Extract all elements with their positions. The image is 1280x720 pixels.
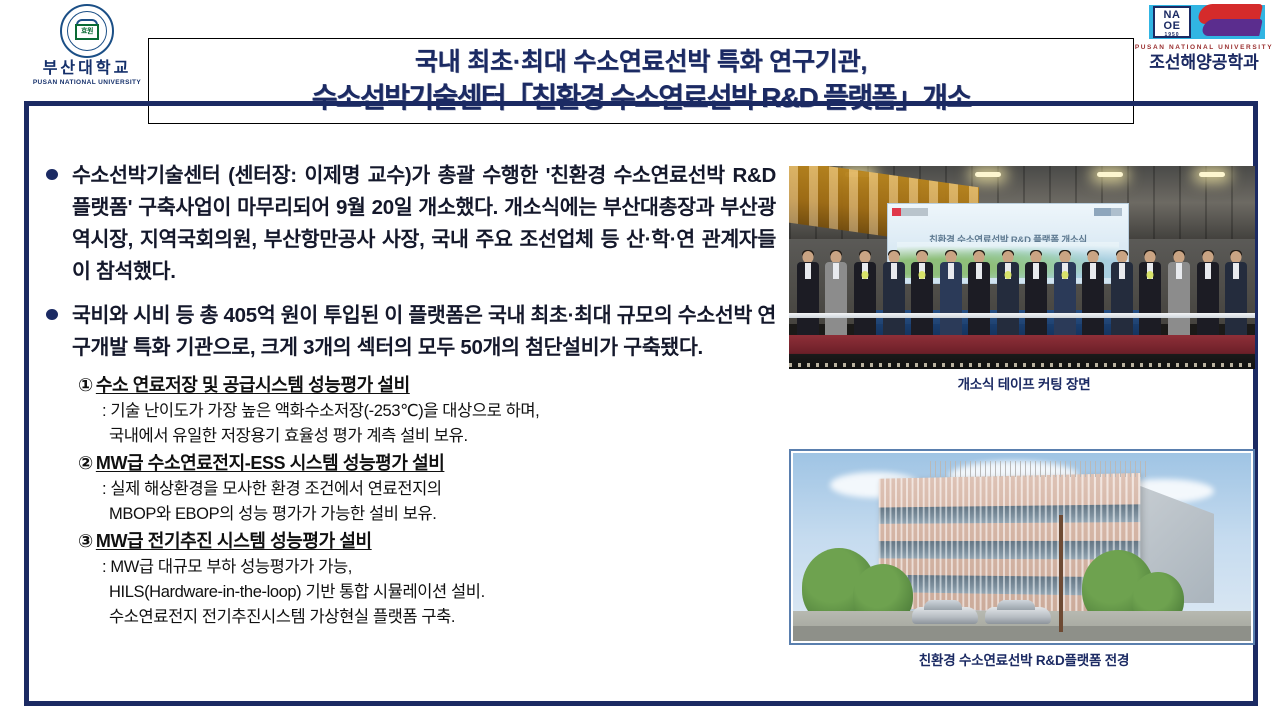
ceiling-lamp-icon	[1097, 172, 1123, 177]
photo-caption-building: 친환경 수소연료선박 R&D플랫폼 전경	[789, 651, 1259, 671]
attendee	[1194, 251, 1221, 336]
numbered-item-2: ②MW급 수소연료전지-ESS 시스템 성능평가 설비 : 실제 해상환경을 모…	[78, 450, 776, 527]
ceremony-attendees	[789, 251, 1255, 336]
bullet-item: 수소선박기술센터 (센터장: 이제명 교수)가 총괄 수행한 '친환경 수소연료…	[46, 160, 776, 288]
bullet-dot-icon	[46, 309, 58, 320]
naoe-acronym-block: NA OE 1950	[1153, 6, 1191, 38]
utility-pole	[1059, 515, 1063, 632]
attendee	[1108, 251, 1135, 336]
body-text-column: 수소선박기술센터 (센터장: 이제명 교수)가 총괄 수행한 '친환경 수소연료…	[46, 160, 776, 690]
naoe-year: 1950	[1155, 32, 1189, 39]
slide-title-box: 국내 최초·최대 수소연료선박 특화 연구기관, 수소선박기술센터「친환경 수소…	[148, 38, 1134, 124]
attendee	[1080, 251, 1107, 336]
bullet-text-1: 수소선박기술센터 (센터장: 이제명 교수)가 총괄 수행한 '친환경 수소연료…	[72, 160, 776, 288]
ceiling-lamp-icon	[975, 172, 1001, 177]
red-carpet-stage	[789, 335, 1255, 370]
attendee	[1137, 251, 1164, 336]
attendee	[880, 251, 907, 336]
attendee	[937, 251, 964, 336]
ceremony-ribbon	[789, 313, 1255, 318]
pnu-seal-icon: 효원	[60, 4, 114, 58]
rooftop-railing	[930, 461, 1150, 478]
naoe-purple-swoosh-icon	[1201, 19, 1263, 36]
numbered-item-1-heading: ①수소 연료저장 및 공급시스템 성능평가 설비	[78, 372, 776, 399]
numbered-heading-text-3: MW급 전기추진 시스템 성능평가 설비	[96, 531, 372, 551]
numbered-item-3-line-1: : MW급 대규모 부하 성능평가가 가능,	[78, 555, 776, 580]
ceiling-lamp-icon	[1199, 172, 1225, 177]
numbered-item-3: ③MW급 전기추진 시스템 성능평가 설비 : MW급 대규모 부하 성능평가가…	[78, 528, 776, 630]
pnu-seal-book-icon: 효원	[75, 24, 99, 40]
ribbon-cutting-ceremony-photo: 친환경 수소연료선박 R&D 플랫폼 개소식	[789, 166, 1255, 369]
slide-title-line-1: 국내 최초·최대 수소연료선박 특화 연구기관,	[415, 45, 867, 79]
bullet-text-2: 국비와 시비 등 총 405억 원이 투입된 이 플랫폼은 국내 최초·최대 규…	[72, 300, 776, 364]
pusan-national-university-logo: 효원 부산대학교 PUSAN NATIONAL UNIVERSITY	[27, 4, 147, 92]
naoe-acronym-line2: OE	[1155, 21, 1189, 32]
parked-car	[912, 607, 978, 624]
numbered-marker-1: ①	[78, 375, 93, 395]
presentation-slide: 효원 부산대학교 PUSAN NATIONAL UNIVERSITY NA OE…	[0, 0, 1280, 720]
numbered-facility-list: ①수소 연료저장 및 공급시스템 성능평가 설비 : 기술 난이도가 가장 높은…	[46, 372, 776, 630]
numbered-item-3-line-3: 수소연료전지 전기추진시스템 가상현실 플랫폼 구축.	[78, 605, 776, 630]
numbered-item-2-line-2: MBOP와 EBOP의 성능 평가가 가능한 설비 보유.	[78, 502, 776, 527]
attendee	[1165, 251, 1192, 336]
attendee	[908, 251, 935, 336]
numbered-item-3-heading: ③MW급 전기추진 시스템 성능평가 설비	[78, 528, 776, 555]
naoe-mark-icon: NA OE 1950	[1141, 3, 1267, 43]
photo-block-ceremony: 친환경 수소연료선박 R&D 플랫폼 개소식	[789, 166, 1259, 395]
numbered-item-1: ①수소 연료저장 및 공급시스템 성능평가 설비 : 기술 난이도가 가장 높은…	[78, 372, 776, 449]
screen-logo-left-icon	[892, 208, 928, 216]
naoe-department-logo: NA OE 1950 PUSAN NATIONAL UNIVERSITY 조선해…	[1130, 3, 1278, 81]
attendee	[1222, 251, 1249, 336]
pnu-name-english: PUSAN NATIONAL UNIVERSITY	[27, 78, 147, 87]
platform-building-photo	[793, 453, 1251, 641]
attendee	[994, 251, 1021, 336]
naoe-name-english: PUSAN NATIONAL UNIVERSITY	[1130, 43, 1278, 52]
attendee	[823, 251, 850, 336]
pnu-seal-book-text: 효원	[77, 26, 97, 38]
attendee	[1023, 251, 1050, 336]
pnu-name-korean: 부산대학교	[27, 59, 147, 78]
numbered-item-2-line-1: : 실제 해상환경을 모사한 환경 조건에서 연료전지의	[78, 477, 776, 502]
photo-block-building: 친환경 수소연료선박 R&D플랫폼 전경	[789, 449, 1259, 671]
numbered-item-1-line-2: 국내에서 유일한 저장용기 효율성 평가 계측 설비 보유.	[78, 424, 776, 449]
building-photo-frame	[789, 449, 1255, 645]
bullet-dot-icon	[46, 169, 58, 180]
entrance-signboard	[811, 559, 831, 615]
numbered-heading-text-1: 수소 연료저장 및 공급시스템 성능평가 설비	[96, 375, 410, 395]
photo-column: 친환경 수소연료선박 R&D 플랫폼 개소식	[789, 166, 1259, 671]
numbered-item-2-heading: ②MW급 수소연료전지-ESS 시스템 성능평가 설비	[78, 450, 776, 477]
bullet-item: 국비와 시비 등 총 405억 원이 투입된 이 플랫폼은 국내 최초·최대 규…	[46, 300, 776, 364]
road	[793, 626, 1251, 641]
slide-title-line-2: 수소선박기술센터「친환경 수소연료선박 R&D 플랫폼」개소	[312, 79, 971, 117]
parked-car	[985, 607, 1051, 624]
numbered-heading-text-2: MW급 수소연료전지-ESS 시스템 성능평가 설비	[96, 453, 445, 473]
screen-logo-right-icon	[1094, 208, 1122, 216]
attendee	[966, 251, 993, 336]
numbered-item-1-line-1: : 기술 난이도가 가장 높은 액화수소저장(-253℃)을 대상으로 하며,	[78, 399, 776, 424]
naoe-name-korean: 조선해양공학과	[1130, 52, 1278, 74]
stage-dot-pattern	[789, 363, 1255, 367]
attendee	[1051, 251, 1078, 336]
numbered-marker-2: ②	[78, 453, 93, 473]
numbered-item-3-line-2: HILS(Hardware-in-the-loop) 기반 통합 시뮬레이션 설…	[78, 580, 776, 605]
attendee	[794, 251, 821, 336]
photo-caption-ceremony: 개소식 테이프 커팅 장면	[789, 375, 1259, 395]
attendee	[851, 251, 878, 336]
numbered-marker-3: ③	[78, 531, 93, 551]
